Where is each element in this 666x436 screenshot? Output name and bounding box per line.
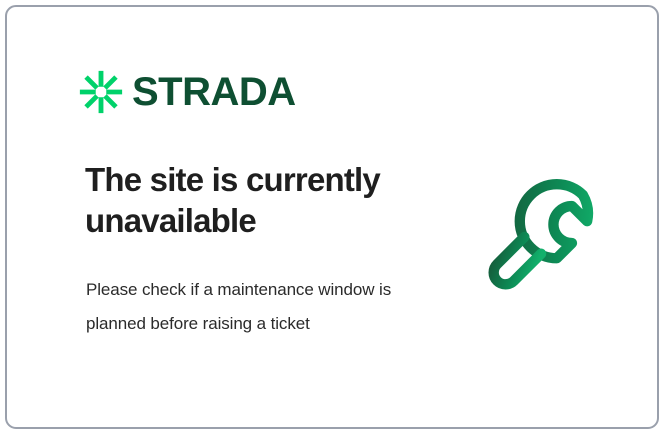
page-description: Please check if a maintenance window is … [86,273,396,341]
strada-asterisk-icon [79,70,123,114]
brand-logo-lockup: STRADA [79,70,296,114]
brand-wordmark: STRADA [132,72,296,112]
wrench-icon [465,165,613,313]
page-title: The site is currently unavailable [85,159,425,242]
status-card: STRADA The site is currently unavailable… [5,5,659,429]
